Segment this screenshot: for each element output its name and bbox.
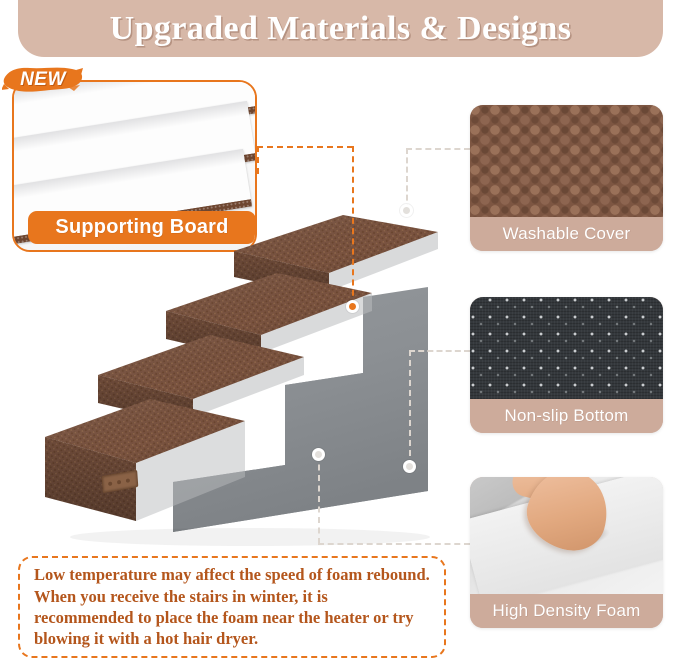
temperature-note-box: Low temperature may affect the speed of … [18,556,446,658]
connector-line-supporting-board-h [257,146,353,148]
high-density-foam-caption: High Density Foam [470,594,663,628]
connector-line-nonslip-v [409,350,411,466]
page-title: Upgraded Materials & Designs [110,10,572,48]
washable-cover-caption-text: Washable Cover [503,224,631,244]
feature-panel-high-density-foam: High Density Foam [470,477,663,628]
feature-panel-non-slip-bottom: Non-slip Bottom [470,297,663,433]
non-slip-bottom-swatch [470,297,663,399]
high-density-foam-caption-text: High Density Foam [493,601,641,621]
header-banner: Upgraded Materials & Designs [18,0,663,57]
feature-panel-washable-cover: Washable Cover [470,105,663,251]
washable-cover-swatch [470,105,663,217]
high-density-foam-photo [470,477,663,594]
brand-dot-icon [117,480,121,485]
connector-line-foam-h [318,543,470,545]
connector-line-supporting-board-v2 [352,146,354,306]
connector-dot-foam [312,448,325,461]
connector-dot-supporting-board [346,300,359,313]
pet-stairs-illustration [40,185,460,555]
brand-dot-icon [126,478,130,483]
new-badge-text: NEW [2,63,84,96]
infographic-canvas: Upgraded Materials & Designs Supporting … [0,0,679,671]
washable-cover-caption: Washable Cover [470,217,663,251]
connector-line-foam-v [318,454,320,544]
non-slip-bottom-caption-text: Non-slip Bottom [505,406,629,426]
connector-dot-washable-cover [400,204,413,217]
connector-line-supporting-board-v1 [257,146,259,174]
temperature-note-text: Low temperature may affect the speed of … [34,564,430,650]
connector-dot-nonslip [403,460,416,473]
brand-dot-icon [108,481,112,486]
connector-line-nonslip-h [409,350,470,352]
connector-line-washable-cover-v [406,148,408,210]
new-badge: NEW [2,63,84,96]
connector-line-washable-cover-h [406,148,470,150]
non-slip-bottom-caption: Non-slip Bottom [470,399,663,433]
